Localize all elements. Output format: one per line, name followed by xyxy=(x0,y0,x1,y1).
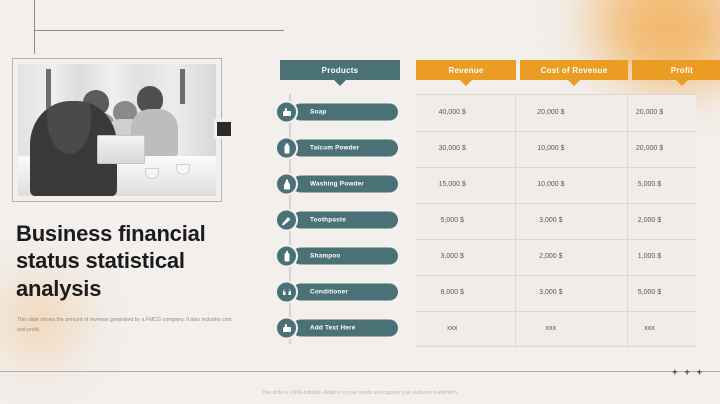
financial-table: Products Revenue Cost of Revenue Profit … xyxy=(268,60,696,350)
table-row[interactable]: Shampoo3,000 $2,000 $1,000 $ xyxy=(268,238,696,274)
grid-horizontal-line xyxy=(416,346,696,347)
cell-profit: 2,000 $ xyxy=(603,202,696,238)
cell-profit: 5,000 $ xyxy=(603,274,696,310)
cell-cost-of-revenue: 3,000 $ xyxy=(499,274,603,310)
page-subtitle: This slide shows the amount of revenue g… xyxy=(17,316,232,335)
table-row[interactable]: Washing Powder15,000 $10,000 $5,000 $ xyxy=(268,166,696,202)
cell-revenue: 8,000 $ xyxy=(406,274,499,310)
cell-revenue: 15,000 $ xyxy=(406,166,499,202)
product-chip-wrap[interactable]: Washing Powder xyxy=(268,166,406,202)
photo-wall-strip xyxy=(180,69,185,103)
cell-revenue: 40,000 $ xyxy=(406,94,499,130)
cell-profit: 1,000 $ xyxy=(603,238,696,274)
cell-cost-of-revenue: 2,000 $ xyxy=(499,238,603,274)
column-header-products: Products xyxy=(280,60,400,80)
plus-marks-decoration: + + + xyxy=(672,368,702,377)
frame-line-horizontal xyxy=(34,30,284,31)
product-chip-wrap[interactable]: Talcum Powder xyxy=(268,130,406,166)
corner-blob-bottom-left xyxy=(0,296,158,404)
slide-canvas: Business financial status statistical an… xyxy=(0,0,720,404)
cell-cost-of-revenue: 10,000 $ xyxy=(499,130,603,166)
team-meeting-photo xyxy=(18,64,216,196)
plus-mark-icon: + xyxy=(684,368,689,377)
page-title: Business financial status statistical an… xyxy=(16,220,248,302)
table-row[interactable]: Toothpaste5,000 $3,000 $2,000 $ xyxy=(268,202,696,238)
square-accent-decoration xyxy=(214,119,234,139)
frame-line-vertical xyxy=(34,0,35,54)
table-row[interactable]: Soap40,000 $20,000 $20,000 $ xyxy=(268,94,696,130)
cell-profit: 20,000 $ xyxy=(603,130,696,166)
conditioner-icon xyxy=(275,281,298,304)
product-label-chip[interactable]: Talcum Powder xyxy=(292,140,398,157)
product-label-chip[interactable]: Shampoo xyxy=(292,248,398,265)
plus-mark-icon: + xyxy=(697,368,702,377)
cell-cost-of-revenue: 10,000 $ xyxy=(499,166,603,202)
cell-revenue: 5,000 $ xyxy=(406,202,499,238)
soap-bar-icon xyxy=(275,101,298,124)
photo-laptop xyxy=(97,135,145,164)
product-chip-wrap[interactable]: Soap xyxy=(268,94,406,130)
product-chip-wrap[interactable]: Toothpaste xyxy=(268,202,406,238)
powder-bottle-icon xyxy=(275,137,298,160)
table-row[interactable]: Talcum Powder30,000 $10,000 $20,000 $ xyxy=(268,130,696,166)
product-chip-wrap[interactable]: Add Text Here xyxy=(268,310,406,346)
soap-bar-icon xyxy=(275,317,298,340)
product-label-chip[interactable]: Soap xyxy=(292,104,398,121)
toothpaste-tube-icon xyxy=(275,209,298,232)
column-header-cost-of-revenue: Cost of Revenue xyxy=(520,60,628,80)
cell-revenue: 30,000 $ xyxy=(406,130,499,166)
cell-cost-of-revenue: xxx xyxy=(499,310,603,346)
product-label-chip[interactable]: Washing Powder xyxy=(292,176,398,193)
footer-note: This slide is 100% editable. Adapt it to… xyxy=(0,390,720,396)
product-chip-wrap[interactable]: Shampoo xyxy=(268,238,406,274)
photo-wall-strip xyxy=(46,69,51,109)
product-label-chip[interactable]: Add Text Here xyxy=(292,320,398,337)
detergent-box-icon xyxy=(275,173,298,196)
table-row[interactable]: Conditioner8,000 $3,000 $5,000 $ xyxy=(268,274,696,310)
cell-profit: 20,000 $ xyxy=(603,94,696,130)
column-header-revenue: Revenue xyxy=(416,60,516,80)
column-header-profit: Profit xyxy=(632,60,720,80)
cell-cost-of-revenue: 20,000 $ xyxy=(499,94,603,130)
table-header-row: Products Revenue Cost of Revenue Profit xyxy=(268,60,696,94)
cell-profit: 5,000 $ xyxy=(603,166,696,202)
plus-mark-icon: + xyxy=(672,368,677,377)
cell-cost-of-revenue: 3,000 $ xyxy=(499,202,603,238)
bottom-divider-rule xyxy=(0,371,720,372)
product-label-chip[interactable]: Toothpaste xyxy=(292,212,398,229)
photo-frame xyxy=(12,58,222,202)
product-chip-wrap[interactable]: Conditioner xyxy=(268,274,406,310)
product-label-chip[interactable]: Conditioner xyxy=(292,284,398,301)
table-row[interactable]: Add Text Herexxxxxxxxx xyxy=(268,310,696,346)
cell-revenue: xxx xyxy=(406,310,499,346)
shampoo-bottle-icon xyxy=(275,245,298,268)
cell-profit: xxx xyxy=(603,310,696,346)
cell-revenue: 3,000 $ xyxy=(406,238,499,274)
